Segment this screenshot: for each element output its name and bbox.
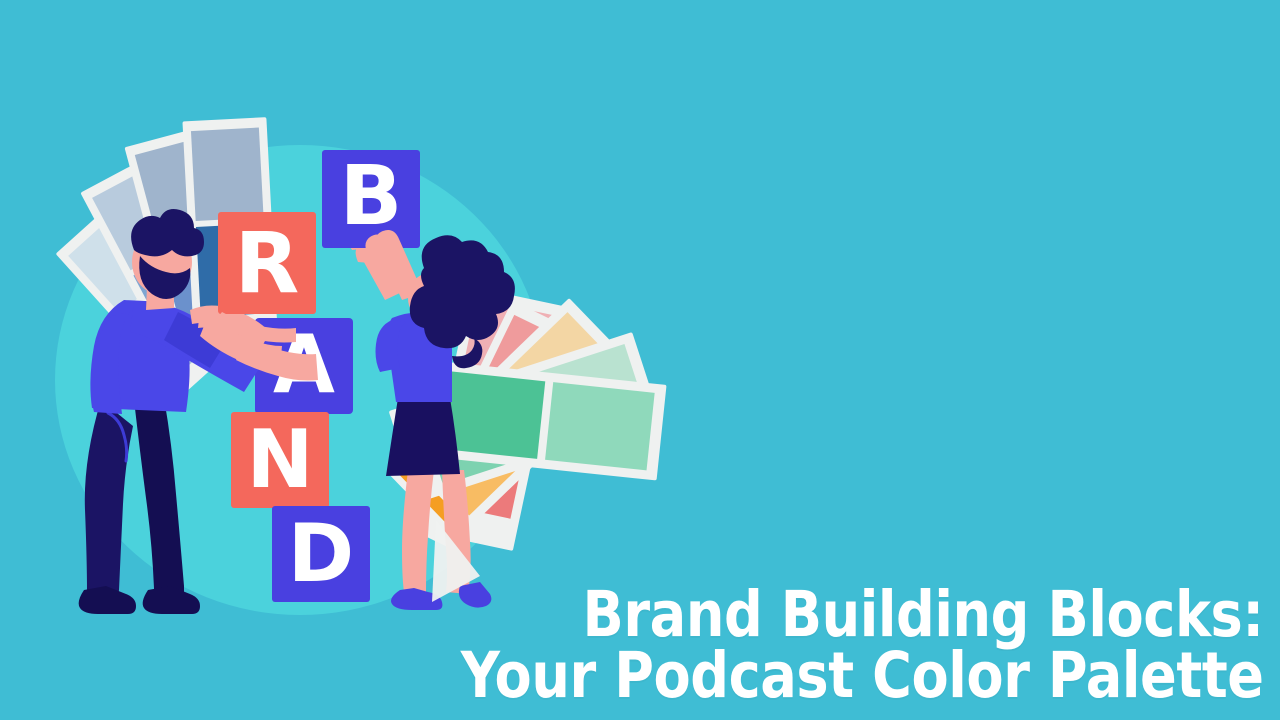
poster-canvas: B A N D xyxy=(0,0,1280,720)
svg-text:B: B xyxy=(340,149,403,244)
title-line-2: Your Podcast Color Palette xyxy=(461,645,1264,706)
svg-text:R: R xyxy=(235,214,300,312)
title-line-1: Brand Building Blocks: xyxy=(461,584,1264,645)
block-B: B xyxy=(322,149,420,248)
title-block: Brand Building Blocks: Your Podcast Colo… xyxy=(330,584,1264,706)
block-N: N xyxy=(231,412,329,508)
svg-text:N: N xyxy=(247,413,314,506)
block-R: R xyxy=(218,212,316,314)
